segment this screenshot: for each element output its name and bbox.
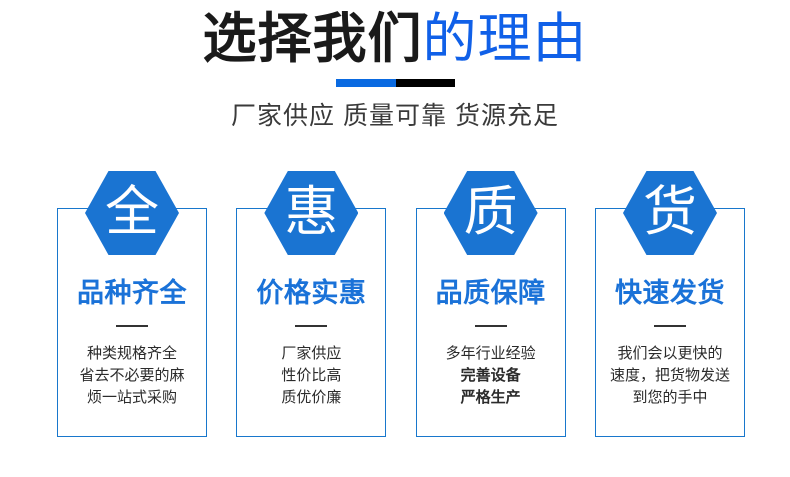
feature-card-2-rule <box>295 325 327 327</box>
page-subtitle: 厂家供应 质量可靠 货源充足 <box>0 101 790 131</box>
feature-card-2-text: 厂家供应 性价比高 质优价廉 <box>281 343 341 409</box>
feature-card-3-text: 多年行业经验 完善设备 严格生产 <box>446 343 536 409</box>
feature-card-1-title: 品种齐全 <box>77 277 187 309</box>
feature-card-3-line-1: 多年行业经验 <box>446 343 536 365</box>
banner-header: 选择我们的理由 厂家供应 质量可靠 货源充足 <box>0 0 790 131</box>
page-title-blue-part: 的理由 <box>423 9 588 69</box>
title-divider-blue-segment <box>336 79 396 87</box>
feature-card-1-text: 种类规格齐全 省去不必要的麻 烦一站式采购 <box>79 343 184 409</box>
promo-banner: 选择我们的理由 厂家供应 质量可靠 货源充足 品种齐全 种类规格齐全 省去不必要… <box>0 0 790 477</box>
feature-card-1-line-2: 省去不必要的麻 <box>79 365 184 387</box>
feature-card-4-text: 我们会以更快的 速度，把货物发送 到您的手中 <box>610 343 730 409</box>
page-title: 选择我们的理由 <box>0 0 790 70</box>
feature-card-1-badge-char: 全 <box>105 185 159 241</box>
feature-card-list: 品种齐全 种类规格齐全 省去不必要的麻 烦一站式采购 全 价格实惠 厂家供应 性… <box>57 208 745 437</box>
feature-card-3-badge-char: 质 <box>464 185 518 241</box>
feature-card-1-line-3: 烦一站式采购 <box>79 387 184 409</box>
feature-card-4-line-1: 我们会以更快的 <box>610 343 730 365</box>
feature-card-4-rule <box>654 325 686 327</box>
feature-card-3-title: 品质保障 <box>436 277 546 309</box>
feature-card-3-rule <box>475 325 507 327</box>
feature-card-4-line-3: 到您的手中 <box>610 387 730 409</box>
feature-card-1-rule <box>116 325 148 327</box>
feature-card-3-line-2: 完善设备 <box>446 365 536 387</box>
feature-card-4-line-2: 速度，把货物发送 <box>610 365 730 387</box>
feature-card-3-line-3: 严格生产 <box>446 387 536 409</box>
title-divider-black-segment <box>396 79 455 87</box>
feature-card-1-line-1: 种类规格齐全 <box>79 343 184 365</box>
feature-card-2-title: 价格实惠 <box>256 277 366 309</box>
feature-card-2: 价格实惠 厂家供应 性价比高 质优价廉 惠 <box>236 208 386 437</box>
feature-card-2-line-1: 厂家供应 <box>281 343 341 365</box>
feature-card-3: 品质保障 多年行业经验 完善设备 严格生产 质 <box>416 208 566 437</box>
feature-card-4-title: 快速发货 <box>615 277 725 309</box>
page-title-dark-part: 选择我们 <box>203 9 423 69</box>
feature-card-2-line-2: 性价比高 <box>281 365 341 387</box>
feature-card-1: 品种齐全 种类规格齐全 省去不必要的麻 烦一站式采购 全 <box>57 208 207 437</box>
title-divider-bar <box>336 79 455 87</box>
feature-card-4-badge-char: 货 <box>643 185 697 241</box>
feature-card-2-line-3: 质优价廉 <box>281 387 341 409</box>
feature-card-4: 快速发货 我们会以更快的 速度，把货物发送 到您的手中 货 <box>595 208 745 437</box>
feature-card-2-badge-char: 惠 <box>284 185 338 241</box>
